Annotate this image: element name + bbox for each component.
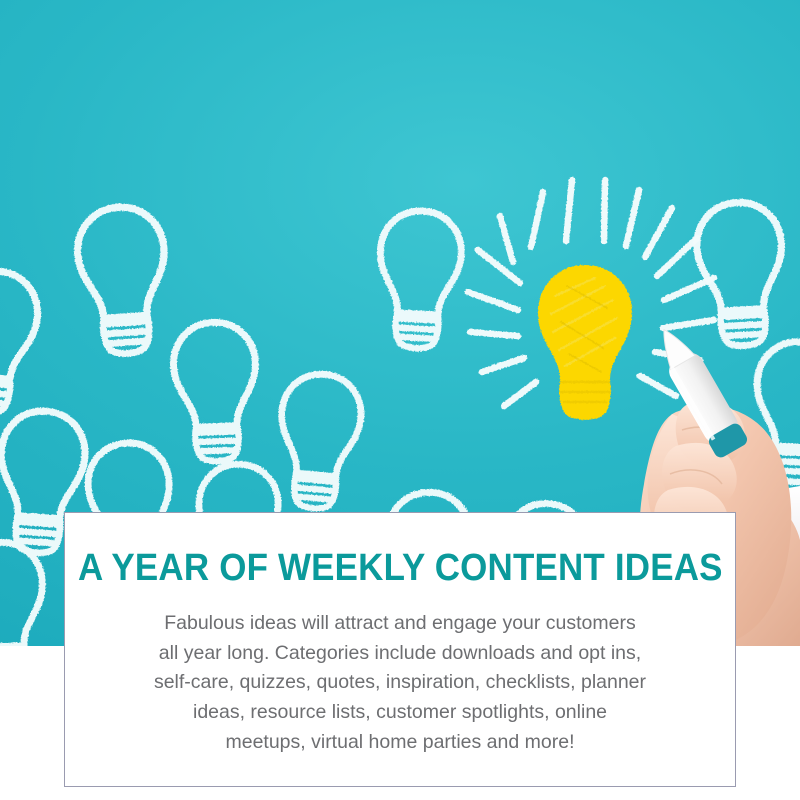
description-text: Fabulous ideas will attract and engage y… xyxy=(120,609,680,757)
page-title: A YEAR OF WEEKLY CONTENT IDEAS xyxy=(78,549,723,587)
description-line-5: meetups, virtual home parties and more! xyxy=(120,728,680,758)
caption-card: A YEAR OF WEEKLY CONTENT IDEAS Fabulous … xyxy=(64,512,736,787)
description-line-2: all year long. Categories include downlo… xyxy=(120,639,680,669)
description-line-3: self-care, quizzes, quotes, inspiration,… xyxy=(120,668,680,698)
description-line-1: Fabulous ideas will attract and engage y… xyxy=(120,609,680,639)
poster-graphic: A YEAR OF WEEKLY CONTENT IDEAS Fabulous … xyxy=(0,0,800,800)
description-line-4: ideas, resource lists, customer spotligh… xyxy=(120,698,680,728)
